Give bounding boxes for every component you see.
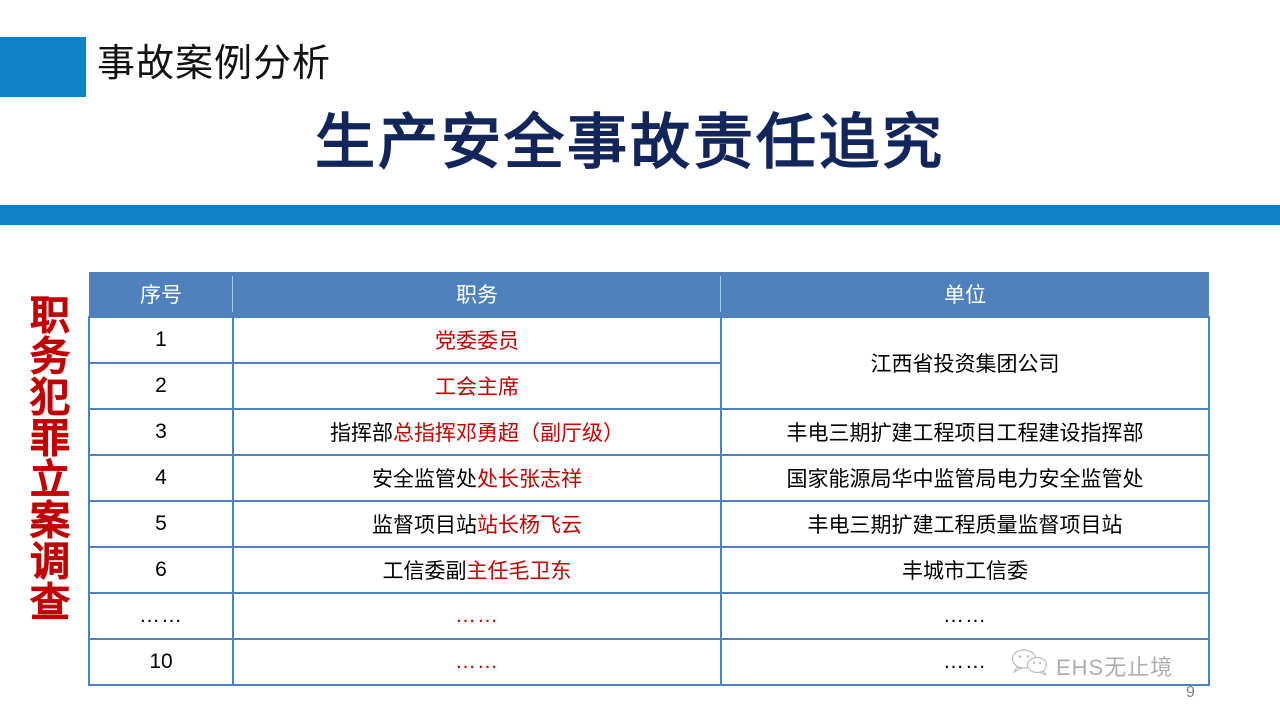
role-highlight-text: 站长杨飞云: [477, 514, 582, 537]
cell-role: 党委委员: [233, 317, 721, 363]
cell-index: 3: [89, 409, 233, 455]
watermark: EHS无止境: [1010, 648, 1173, 683]
role-highlight-text: 主任毛卫东: [467, 560, 572, 583]
table-row: 1党委委员江西省投资集团公司: [89, 317, 1209, 363]
role-highlight-text: 工会主席: [435, 376, 519, 399]
responsibility-table-wrapper: 序号 职务 单位 1党委委员江西省投资集团公司2工会主席3指挥部总指挥邓勇超（副…: [88, 272, 1208, 656]
table-row: ………………: [89, 593, 1209, 639]
role-prefix-text: 监督项目站: [372, 514, 477, 537]
cell-role: 工会主席: [233, 363, 721, 409]
cell-unit: 丰城市工信委: [721, 547, 1209, 593]
cell-role: 监督项目站站长杨飞云: [233, 501, 721, 547]
cell-index: 6: [89, 547, 233, 593]
cell-index: 10: [89, 639, 233, 685]
watermark-text: EHS无止境: [1056, 650, 1173, 682]
role-highlight-text: 总指挥邓勇超（副厅级）: [393, 422, 624, 445]
ellipsis-text: ……: [139, 604, 183, 627]
table-row: 3指挥部总指挥邓勇超（副厅级）丰电三期扩建工程项目工程建设指挥部: [89, 409, 1209, 455]
cell-role: 工信委副主任毛卫东: [233, 547, 721, 593]
role-prefix-text: 安全监管处: [372, 468, 477, 491]
side-label: 职务犯罪 立案调查: [22, 296, 78, 668]
ellipsis-text: ……: [455, 604, 499, 627]
cell-unit: 江西省投资集团公司: [721, 317, 1209, 409]
role-prefix-text: 工信委副: [383, 560, 467, 583]
cell-unit: 国家能源局华中监管局电力安全监管处: [721, 455, 1209, 501]
cell-index: 5: [89, 501, 233, 547]
slide-kicker: 事故案例分析: [97, 36, 331, 92]
role-highlight-text: 党委委员: [435, 330, 519, 353]
accent-square: [0, 37, 86, 97]
column-header-index: 序号: [89, 272, 233, 317]
cell-role: 安全监管处处长张志祥: [233, 455, 721, 501]
role-highlight-text: 处长张志祥: [477, 468, 582, 491]
responsibility-table: 序号 职务 单位 1党委委员江西省投资集团公司2工会主席3指挥部总指挥邓勇超（副…: [88, 272, 1210, 686]
cell-index: 4: [89, 455, 233, 501]
cell-index: ……: [89, 593, 233, 639]
ellipsis-text: ……: [943, 650, 987, 673]
table-header-row: 序号 职务 单位: [89, 272, 1209, 317]
page-title: 生产安全事故责任追究: [0, 106, 1280, 180]
cell-unit: 丰电三期扩建工程项目工程建设指挥部: [721, 409, 1209, 455]
wechat-icon: [1010, 648, 1050, 683]
cell-role: ……: [233, 593, 721, 639]
cell-index: 1: [89, 317, 233, 363]
table-row: 5监督项目站站长杨飞云丰电三期扩建工程质量监督项目站: [89, 501, 1209, 547]
cell-unit: ……: [721, 593, 1209, 639]
column-header-role: 职务: [233, 272, 721, 317]
table-body: 1党委委员江西省投资集团公司2工会主席3指挥部总指挥邓勇超（副厅级）丰电三期扩建…: [89, 317, 1209, 685]
ellipsis-text: ……: [943, 604, 987, 627]
table-row: 4安全监管处处长张志祥国家能源局华中监管局电力安全监管处: [89, 455, 1209, 501]
page-number: 9: [1186, 684, 1195, 702]
cell-index: 2: [89, 363, 233, 409]
table-row: 6工信委副主任毛卫东丰城市工信委: [89, 547, 1209, 593]
header-divider-bar: [0, 205, 1280, 225]
cell-unit: 丰电三期扩建工程质量监督项目站: [721, 501, 1209, 547]
ellipsis-text: ……: [455, 650, 499, 673]
cell-role: ……: [233, 639, 721, 685]
role-prefix-text: 指挥部: [330, 422, 393, 445]
cell-role: 指挥部总指挥邓勇超（副厅级）: [233, 409, 721, 455]
column-header-unit: 单位: [721, 272, 1209, 317]
